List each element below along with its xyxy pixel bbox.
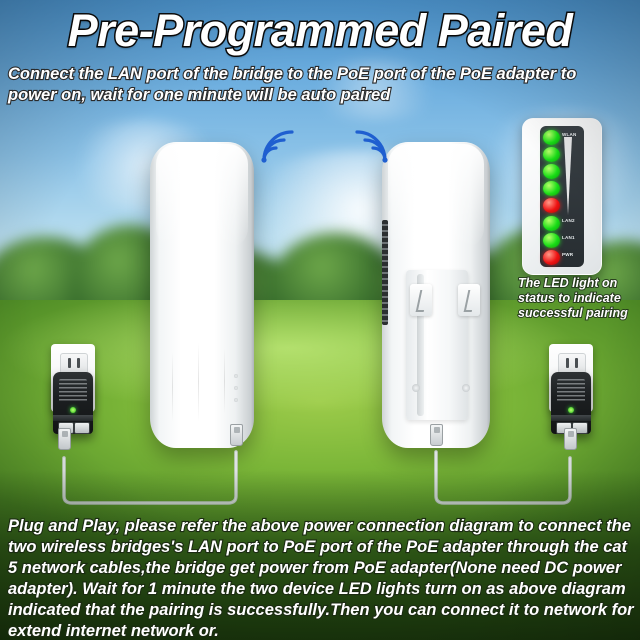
adapter-label <box>59 379 87 403</box>
adapter-label <box>557 379 585 403</box>
vent-grille <box>382 220 388 325</box>
wifi-signal-icon-left <box>258 130 294 169</box>
bracket-clip <box>410 284 432 316</box>
led-wlan <box>543 130 560 145</box>
adapter-power-led <box>568 407 574 413</box>
led-pwr <box>543 250 560 265</box>
rj45-plug <box>58 428 71 450</box>
led-lan1 <box>543 233 560 248</box>
rj45-plug <box>430 424 443 446</box>
poe-adapter-right <box>551 372 591 434</box>
footer-paragraph: Plug and Play, please refer the above po… <box>8 516 636 640</box>
led-lan2 <box>543 216 560 231</box>
wireless-bridge-left <box>150 142 254 448</box>
led-indicator <box>543 164 560 179</box>
rj45-plug <box>230 424 243 446</box>
rj45-plug <box>564 428 577 450</box>
led-indicator <box>543 181 560 196</box>
adapter-power-led <box>70 407 76 413</box>
product-instruction-image: WLAN LAN2 LAN1 PWR The LED light on stat… <box>0 0 640 640</box>
led-strip: WLAN LAN2 LAN1 PWR <box>540 126 584 267</box>
led-status-panel: WLAN LAN2 LAN1 PWR <box>522 118 602 275</box>
header-subtitle: Connect the LAN port of the bridge to th… <box>8 64 608 106</box>
light-beam-graphic <box>564 137 572 215</box>
adapter-band <box>53 415 93 421</box>
outlet-socket <box>558 353 586 374</box>
led-indicator <box>543 147 560 162</box>
led-label-lan2: LAN2 <box>562 218 575 223</box>
led-label-pwr: PWR <box>562 252 573 257</box>
led-indicator <box>543 198 560 213</box>
adapter-band <box>551 415 591 421</box>
led-panel-caption: The LED light on status to indicate succ… <box>518 276 640 321</box>
page-title: Pre-Programmed Paired <box>0 6 640 56</box>
device-gloss <box>388 144 483 248</box>
bracket-clip <box>458 284 480 316</box>
led-label-lan1: LAN1 <box>562 235 575 240</box>
wireless-bridge-right <box>382 142 490 448</box>
poe-adapter-left <box>53 372 93 434</box>
wifi-signal-icon-right <box>355 130 391 169</box>
outlet-socket <box>60 353 88 374</box>
device-gloss <box>156 144 248 248</box>
